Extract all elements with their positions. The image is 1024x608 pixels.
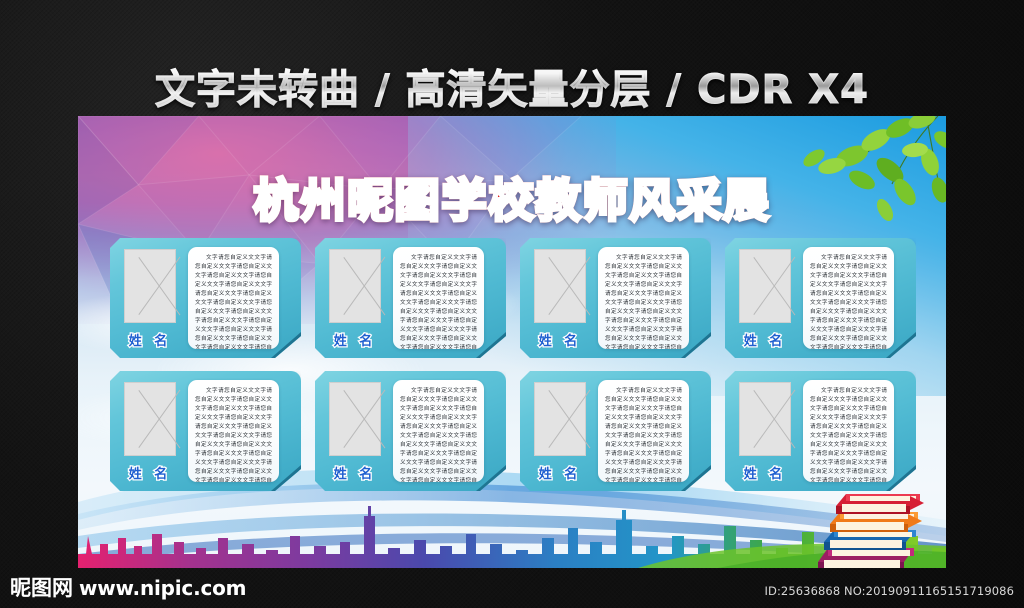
card-name-label: 姓 名 bbox=[539, 463, 582, 482]
card-name-label: 姓 名 bbox=[129, 463, 172, 482]
teacher-card[interactable]: 姓 名 文字请您自定义文文字请您自定义文文字请您自定义文文字请您自定义文文字请您… bbox=[725, 238, 916, 358]
card-left-column: 姓 名 bbox=[531, 247, 589, 349]
card-text-panel[interactable]: 文字请您自定义文文字请您自定义文文字请您自定义文文字请您自定义文文字请您自定义文… bbox=[188, 380, 279, 482]
image-id-code: ID:25636868 NO:20190911165151719086 bbox=[765, 584, 1014, 598]
photo-placeholder-x-icon[interactable] bbox=[124, 382, 176, 456]
brand-name-cn: 昵图网 bbox=[10, 572, 73, 602]
teacher-card[interactable]: 姓 名 文字请您自定义文文字请您自定义文文字请您自定义文文字请您自定义文文字请您… bbox=[110, 371, 301, 491]
card-text-panel[interactable]: 文字请您自定义文文字请您自定义文文字请您自定义文文字请您自定义文文字请您自定义文… bbox=[393, 380, 484, 482]
photo-placeholder-x-icon[interactable] bbox=[739, 382, 791, 456]
photo-placeholder-x-icon[interactable] bbox=[329, 382, 381, 456]
photo-placeholder-x-icon[interactable] bbox=[739, 249, 791, 323]
footer: 昵图网 www.nipic.com ID:25636868 NO:2019091… bbox=[0, 568, 1024, 608]
card-body-text: 文字请您自定义文文字请您自定义文文字请您自定义文文字请您自定义文文字请您自定义文… bbox=[810, 254, 887, 349]
card-name-label: 姓 名 bbox=[539, 330, 582, 349]
card-left-column: 姓 名 bbox=[121, 380, 179, 482]
teacher-card[interactable]: 姓 名 文字请您自定义文文字请您自定义文文字请您自定义文文字请您自定义文文字请您… bbox=[315, 238, 506, 358]
card-text-panel[interactable]: 文字请您自定义文文字请您自定义文文字请您自定义文文字请您自定义文文字请您自定义文… bbox=[598, 247, 689, 349]
card-body-text: 文字请您自定义文文字请您自定义文文字请您自定义文文字请您自定义文文字请您自定义文… bbox=[605, 387, 682, 482]
poster-title-text: 杭州昵图学校教师风采展 bbox=[253, 164, 770, 229]
photo-placeholder-x-icon[interactable] bbox=[329, 249, 381, 323]
photo-placeholder-x-icon[interactable] bbox=[534, 249, 586, 323]
card-body-text: 文字请您自定义文文字请您自定义文文字请您自定义文文字请您自定义文文字请您自定义文… bbox=[400, 387, 477, 482]
card-text-panel[interactable]: 文字请您自定义文文字请您自定义文文字请您自定义文文字请您自定义文文字请您自定义文… bbox=[188, 247, 279, 349]
card-body-text: 文字请您自定义文文字请您自定义文文字请您自定义文文字请您自定义文文字请您自定义文… bbox=[400, 254, 477, 349]
card-body-text: 文字请您自定义文文字请您自定义文文字请您自定义文文字请您自定义文文字请您自定义文… bbox=[810, 387, 887, 482]
teacher-card[interactable]: 姓 名 文字请您自定义文文字请您自定义文文字请您自定义文文字请您自定义文文字请您… bbox=[315, 371, 506, 491]
card-text-panel[interactable]: 文字请您自定义文文字请您自定义文文字请您自定义文文字请您自定义文文字请您自定义文… bbox=[598, 380, 689, 482]
teacher-card[interactable]: 姓 名 文字请您自定义文文字请您自定义文文字请您自定义文文字请您自定义文文字请您… bbox=[110, 238, 301, 358]
card-left-column: 姓 名 bbox=[326, 380, 384, 482]
banner-headline: 文字未转曲 / 高清矢量分层 / CDR X4 bbox=[0, 58, 1024, 114]
card-body-text: 文字请您自定义文文字请您自定义文文字请您自定义文文字请您自定义文文字请您自定义文… bbox=[195, 254, 272, 349]
site-brand[interactable]: 昵图网 www.nipic.com bbox=[10, 572, 246, 602]
card-left-column: 姓 名 bbox=[736, 247, 794, 349]
card-body-text: 文字请您自定义文文字请您自定义文文字请您自定义文文字请您自定义文文字请您自定义文… bbox=[605, 254, 682, 349]
card-name-label: 姓 名 bbox=[334, 463, 377, 482]
poster-title: 杭州昵图学校教师风采展 bbox=[78, 164, 946, 229]
card-left-column: 姓 名 bbox=[326, 247, 384, 349]
card-left-column: 姓 名 bbox=[531, 380, 589, 482]
card-body-text: 文字请您自定义文文字请您自定义文文字请您自定义文文字请您自定义文文字请您自定义文… bbox=[195, 387, 272, 482]
card-text-panel[interactable]: 文字请您自定义文文字请您自定义文文字请您自定义文文字请您自定义文文字请您自定义文… bbox=[803, 380, 894, 482]
teacher-card[interactable]: 姓 名 文字请您自定义文文字请您自定义文文字请您自定义文文字请您自定义文文字请您… bbox=[725, 371, 916, 491]
card-name-label: 姓 名 bbox=[744, 330, 787, 349]
photo-placeholder-x-icon[interactable] bbox=[124, 249, 176, 323]
photo-placeholder-x-icon[interactable] bbox=[534, 382, 586, 456]
card-name-label: 姓 名 bbox=[334, 330, 377, 349]
banner-headline-text: 文字未转曲 / 高清矢量分层 / CDR X4 bbox=[155, 57, 869, 115]
poster: 杭州昵图学校教师风采展 bbox=[78, 116, 946, 568]
teacher-card[interactable]: 姓 名 文字请您自定义文文字请您自定义文文字请您自定义文文字请您自定义文文字请您… bbox=[520, 371, 711, 491]
brand-url: www.nipic.com bbox=[79, 576, 246, 600]
card-left-column: 姓 名 bbox=[736, 380, 794, 482]
card-name-label: 姓 名 bbox=[129, 330, 172, 349]
card-name-label: 姓 名 bbox=[744, 463, 787, 482]
card-text-panel[interactable]: 文字请您自定义文文字请您自定义文文字请您自定义文文字请您自定义文文字请您自定义文… bbox=[393, 247, 484, 349]
teacher-card[interactable]: 姓 名 文字请您自定义文文字请您自定义文文字请您自定义文文字请您自定义文文字请您… bbox=[520, 238, 711, 358]
card-text-panel[interactable]: 文字请您自定义文文字请您自定义文文字请您自定义文文字请您自定义文文字请您自定义文… bbox=[803, 247, 894, 349]
card-left-column: 姓 名 bbox=[121, 247, 179, 349]
teacher-card-grid: 姓 名 文字请您自定义文文字请您自定义文文字请您自定义文文字请您自定义文文字请您… bbox=[110, 238, 916, 491]
